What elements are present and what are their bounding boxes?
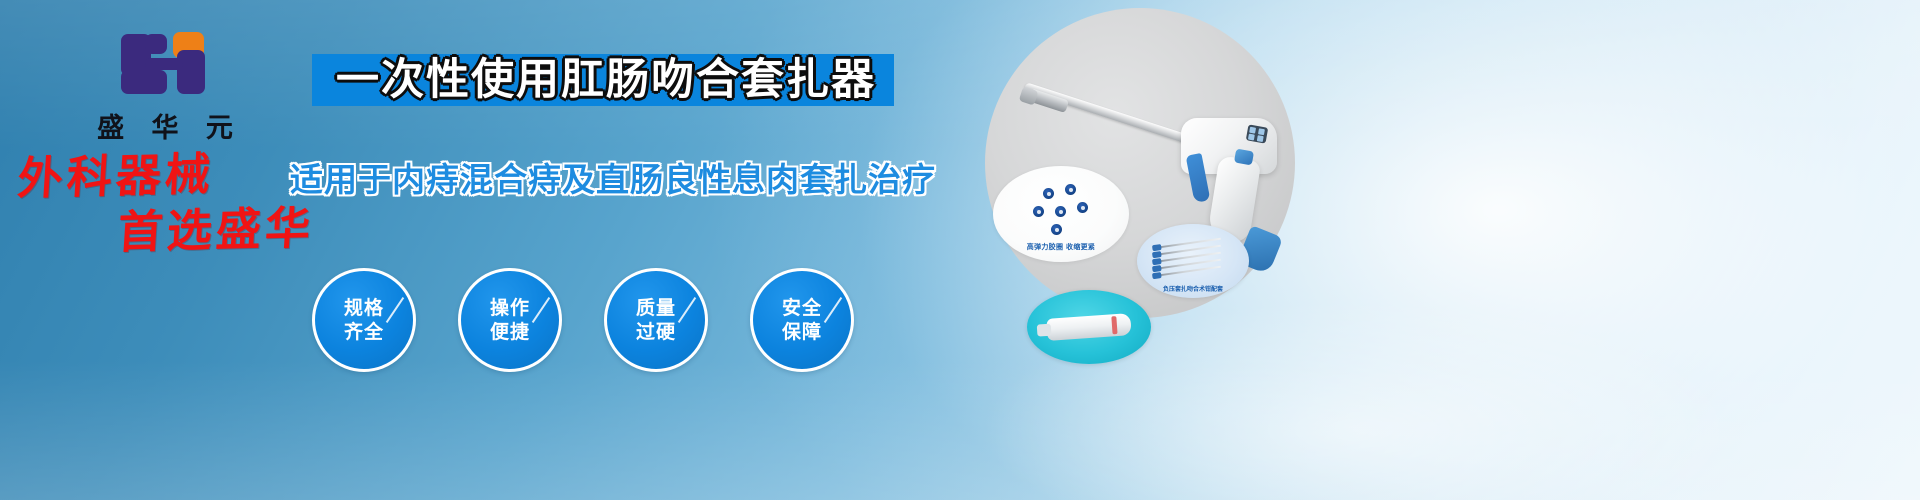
slash-accent-icon	[824, 297, 842, 323]
brand-logo[interactable]: 盛 华 元	[70, 28, 260, 145]
promo-banner: 盛 华 元 外科器械 首选盛华 一次性使用肛肠吻合套扎器 适用于内痔混合痔及直肠…	[0, 0, 1920, 500]
feature-label-specs: 规格齐全	[344, 296, 384, 344]
feature-label-operation: 操作便捷	[490, 296, 530, 344]
feature-label-quality: 质量过硬	[636, 296, 676, 344]
device-button	[1234, 149, 1254, 166]
feature-label-safety: 安全保障	[782, 296, 822, 344]
feature-item-quality[interactable]: 质量过硬	[604, 268, 708, 372]
slogan-line-2: 首选盛华	[116, 200, 360, 261]
logo-blocks-icon	[121, 28, 209, 98]
inset-cyan-device	[1027, 290, 1151, 364]
slash-accent-icon	[678, 297, 696, 323]
brand-name: 盛 华 元	[70, 106, 260, 145]
inset-caption-needle-tools: 负压套扎吻合术钳配套	[1137, 284, 1249, 293]
feature-item-operation[interactable]: 操作便捷	[458, 268, 562, 372]
page-title: 一次性使用肛肠吻合套扎器	[316, 52, 896, 108]
inset-needle-tools: 负压套扎吻合术钳配套	[1137, 224, 1249, 298]
feature-item-safety[interactable]: 安全保障	[750, 268, 854, 372]
feature-list: 规格齐全 操作便捷 质量过硬 安全保障	[312, 268, 854, 372]
inset-caption-rubber-bands: 高弹力胶圈 收缩更紧	[993, 242, 1129, 252]
product-photo: 高弹力胶圈 收缩更紧 负压套扎吻合术钳配套	[985, 8, 1305, 328]
subtitle: 适用于内痔混合痔及直肠良性息肉套扎治疗	[290, 158, 910, 202]
slash-accent-icon	[532, 297, 550, 323]
feature-item-specs[interactable]: 规格齐全	[312, 268, 416, 372]
cyan-device-tube	[1046, 313, 1131, 341]
inset-rubber-bands: 高弹力胶圈 收缩更紧	[993, 166, 1129, 262]
device-keypad-icon	[1246, 124, 1268, 143]
slash-accent-icon	[386, 297, 404, 323]
